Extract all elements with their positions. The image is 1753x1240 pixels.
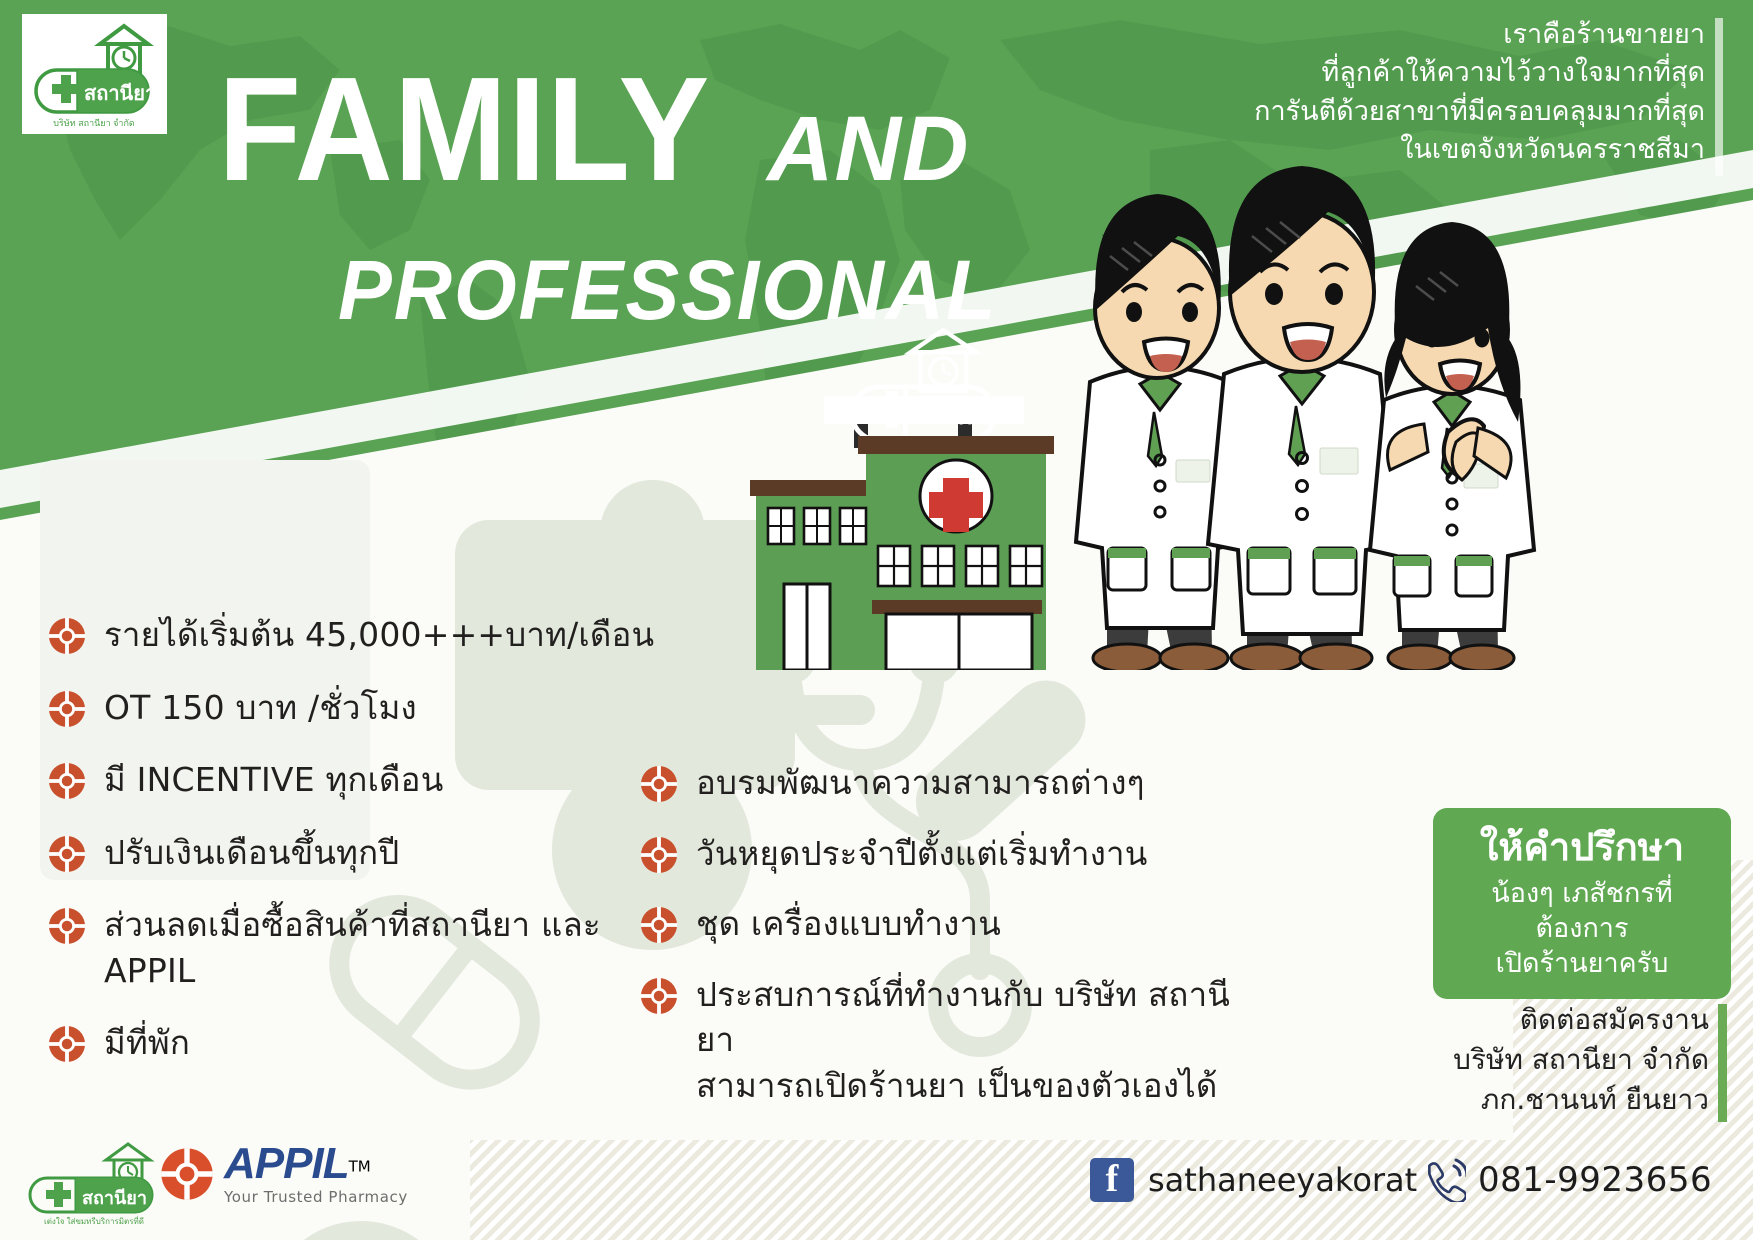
appil-mark-icon [48, 1025, 86, 1063]
appil-mark-icon [48, 907, 86, 945]
benefits-list-left: รายได้เริ่มต้น 45,000+++บาท/เดือน OT 150… [48, 612, 688, 1093]
tagline-line-1: เราคือร้านขายยา [1145, 16, 1705, 54]
benefits-list-right: อบรมพัฒนาความสามารถต่างๆ วันหยุดประจำปีต… [640, 760, 1260, 1133]
svg-text:สถานียา: สถานียา [920, 402, 1009, 430]
contact-line-3: ภก.ชานนท์ ยืนยาว [1379, 1080, 1709, 1120]
consult-card-title: ให้คำปรึกษา [1445, 824, 1719, 872]
benefit-text: วันหยุดประจำปีตั้งแต่เริ่มทำงาน [696, 831, 1148, 877]
headline-and: AND [767, 97, 969, 202]
list-item: มีที่พัก [48, 1020, 688, 1066]
appil-mark-icon [48, 762, 86, 800]
appil-mark-icon [48, 617, 86, 655]
list-item: ชุด เครื่องแบบทำงาน [640, 901, 1260, 947]
facebook-contact[interactable]: sathaneeyakorat [1090, 1158, 1417, 1202]
rooftop-sign: สถานียา [824, 330, 1024, 448]
phone-contact[interactable]: 081-9923656 [1420, 1158, 1712, 1202]
list-item: ประสบการณ์ที่ทำงานกับ บริษัท สถานียา สาม… [640, 972, 1260, 1109]
list-item: รายได้เริ่มต้น 45,000+++บาท/เดือน [48, 612, 688, 658]
phone-number[interactable]: 081-9923656 [1478, 1160, 1712, 1200]
contact-line-2: บริษัท สถานียา จำกัด [1379, 1040, 1709, 1080]
list-item: OT 150 บาท /ชั่วโมง [48, 685, 688, 731]
benefit-text: มี INCENTIVE ทุกเดือน [104, 757, 443, 803]
benefit-text: รายได้เริ่มต้น 45,000+++บาท/เดือน [104, 612, 654, 658]
pharmacist-characters-illustration [1052, 160, 1592, 670]
contact-accent-bar [1718, 1004, 1727, 1122]
contact-line-1: ติดต่อสมัครงาน [1379, 1000, 1709, 1040]
consultation-card: ให้คำปรึกษา น้องๆ เภสัชกรที่ต้องการ เปิด… [1433, 808, 1731, 999]
tagline-line-2: ที่ลูกค้าให้ความไว้วางใจมากที่สุด [1145, 54, 1705, 92]
consult-card-line-2: น้องๆ เภสัชกรที่ต้องการ [1445, 876, 1719, 946]
facebook-handle[interactable]: sathaneeyakorat [1148, 1161, 1417, 1199]
benefit-text: ส่วนลดเมื่อซื้อสินค้าที่สถานียา และ APPI… [104, 902, 688, 993]
appil-mark-icon [48, 690, 86, 728]
poster-headline: FAMILYAND PROFESSIONAL [218, 62, 1168, 202]
header-tagline: เราคือร้านขายยา ที่ลูกค้าให้ความไว้วางใจ… [1145, 16, 1705, 169]
footer-company-logo: สถานียา เต่งใจ ใส่ขมทรีบริการมิตรที่ดี [22, 1138, 172, 1228]
phone-icon [1420, 1158, 1466, 1202]
appil-mark-icon [48, 835, 86, 873]
headline-professional: PROFESSIONAL [338, 242, 997, 339]
pharmacist-center [1208, 166, 1396, 670]
appil-wordmark: APPIL [224, 1139, 349, 1188]
svg-text:สถานียา: สถานียา [84, 82, 156, 105]
facebook-icon[interactable] [1090, 1158, 1134, 1202]
pharmacist-right [1370, 222, 1534, 670]
contact-block: ติดต่อสมัครงาน บริษัท สถานียา จำกัด ภก.ช… [1379, 1000, 1709, 1119]
tagline-line-3: การันตีด้วยสาขาที่มีครอบคลุมมากที่สุด [1145, 93, 1705, 131]
tagline-line-4: ในเขตจังหวัดนครราชสีมา [1145, 131, 1705, 169]
list-item: อบรมพัฒนาความสามารถต่างๆ [640, 760, 1260, 806]
headline-family: FAMILY [218, 62, 710, 198]
appil-mark-icon [640, 765, 678, 803]
recruitment-poster: สถานียา [0, 0, 1753, 1240]
clock-tower-icon [100, 26, 148, 74]
appil-mark-icon [640, 836, 678, 874]
company-logo-box: สถานียา บริษัท สถานียา จำกัด [22, 14, 167, 134]
appil-trademark: TM [349, 1158, 371, 1176]
benefit-text: อบรมพัฒนาความสามารถต่างๆ [696, 760, 1145, 806]
list-item: วันหยุดประจำปีตั้งแต่เริ่มทำงาน [640, 831, 1260, 877]
capsule-logo-icon: สถานียา [36, 70, 156, 112]
svg-text:สถานียา: สถานียา [82, 1188, 147, 1208]
logo-subtitle: บริษัท สถานียา จำกัด [53, 118, 135, 128]
benefit-text: ปรับเงินเดือนขึ้นทุกปี [104, 830, 399, 876]
appil-mark-icon [640, 977, 678, 1015]
list-item: ส่วนลดเมื่อซื้อสินค้าที่สถานียา และ APPI… [48, 902, 688, 993]
footer-logo-tagline: เต่งใจ ใส่ขมทรีบริการมิตรที่ดี [44, 1215, 144, 1226]
appil-logo: APPILTM Your Trusted Pharmacy [160, 1142, 408, 1206]
appil-mark-icon [640, 906, 678, 944]
appil-tagline: Your Trusted Pharmacy [224, 1188, 408, 1206]
benefit-text: ประสบการณ์ที่ทำงานกับ บริษัท สถานียา สาม… [696, 972, 1260, 1109]
list-item: มี INCENTIVE ทุกเดือน [48, 757, 688, 803]
benefit-text: มีที่พัก [104, 1020, 190, 1066]
benefit-text: ชุด เครื่องแบบทำงาน [696, 901, 1001, 947]
appil-mark-icon [160, 1147, 214, 1201]
consult-card-line-3: เปิดร้านยาครับ [1445, 946, 1719, 981]
benefit-text: OT 150 บาท /ชั่วโมง [104, 685, 417, 731]
tagline-accent-bar [1715, 18, 1723, 176]
list-item: ปรับเงินเดือนขึ้นทุกปี [48, 830, 688, 876]
